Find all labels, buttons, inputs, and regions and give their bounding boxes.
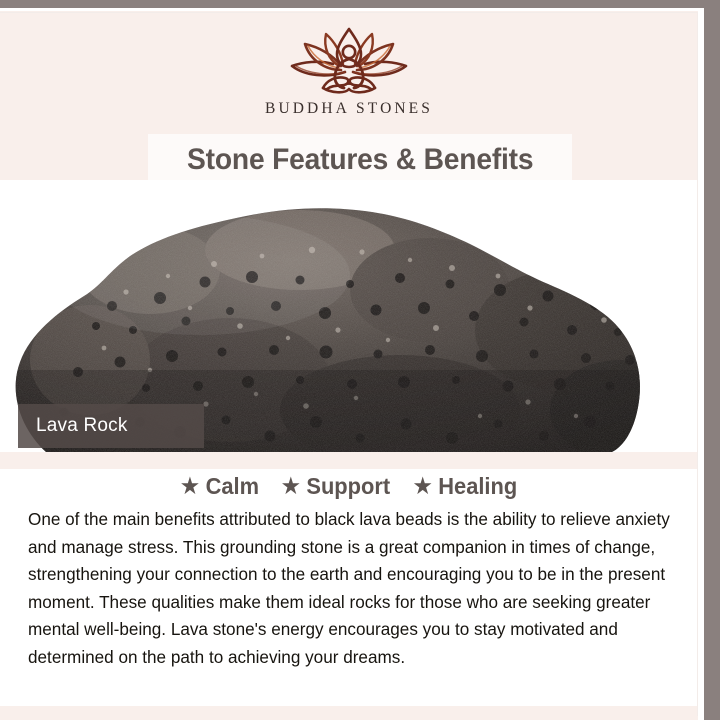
star-icon: ★: [181, 476, 199, 497]
section-separator: [0, 452, 698, 469]
body-section: ★ Calm ★ Support ★ Healing One of the ma…: [0, 469, 698, 705]
benefit-item-healing: ★ Healing: [413, 473, 516, 500]
brand-logo: BUDDHA STONES: [0, 26, 698, 130]
title-plate: Stone Features & Benefits: [148, 134, 572, 185]
star-icon: ★: [281, 476, 299, 497]
star-icon: ★: [413, 476, 431, 497]
benefits-row: ★ Calm ★ Support ★ Healing: [0, 469, 698, 503]
hero-caption-label: Lava Rock: [18, 415, 128, 437]
lotus-meditation-icon: [283, 26, 415, 98]
benefit-item-support: ★ Support: [281, 473, 389, 500]
page-title: Stone Features & Benefits: [187, 143, 533, 177]
benefit-label: Healing: [438, 473, 517, 500]
benefit-label: Support: [306, 473, 390, 500]
brand-name: BUDDHA STONES: [265, 100, 433, 118]
hero-caption: Lava Rock: [18, 404, 204, 448]
bottom-accent-strip: [0, 706, 698, 720]
infographic-canvas: BUDDHA STONES Stone Features & Benefits: [0, 0, 720, 720]
header-section: BUDDHA STONES Stone Features & Benefits: [0, 8, 698, 180]
benefit-label: Calm: [205, 473, 258, 500]
description-paragraph: One of the main benefits attributed to b…: [28, 506, 678, 671]
benefit-item-calm: ★ Calm: [181, 473, 259, 500]
